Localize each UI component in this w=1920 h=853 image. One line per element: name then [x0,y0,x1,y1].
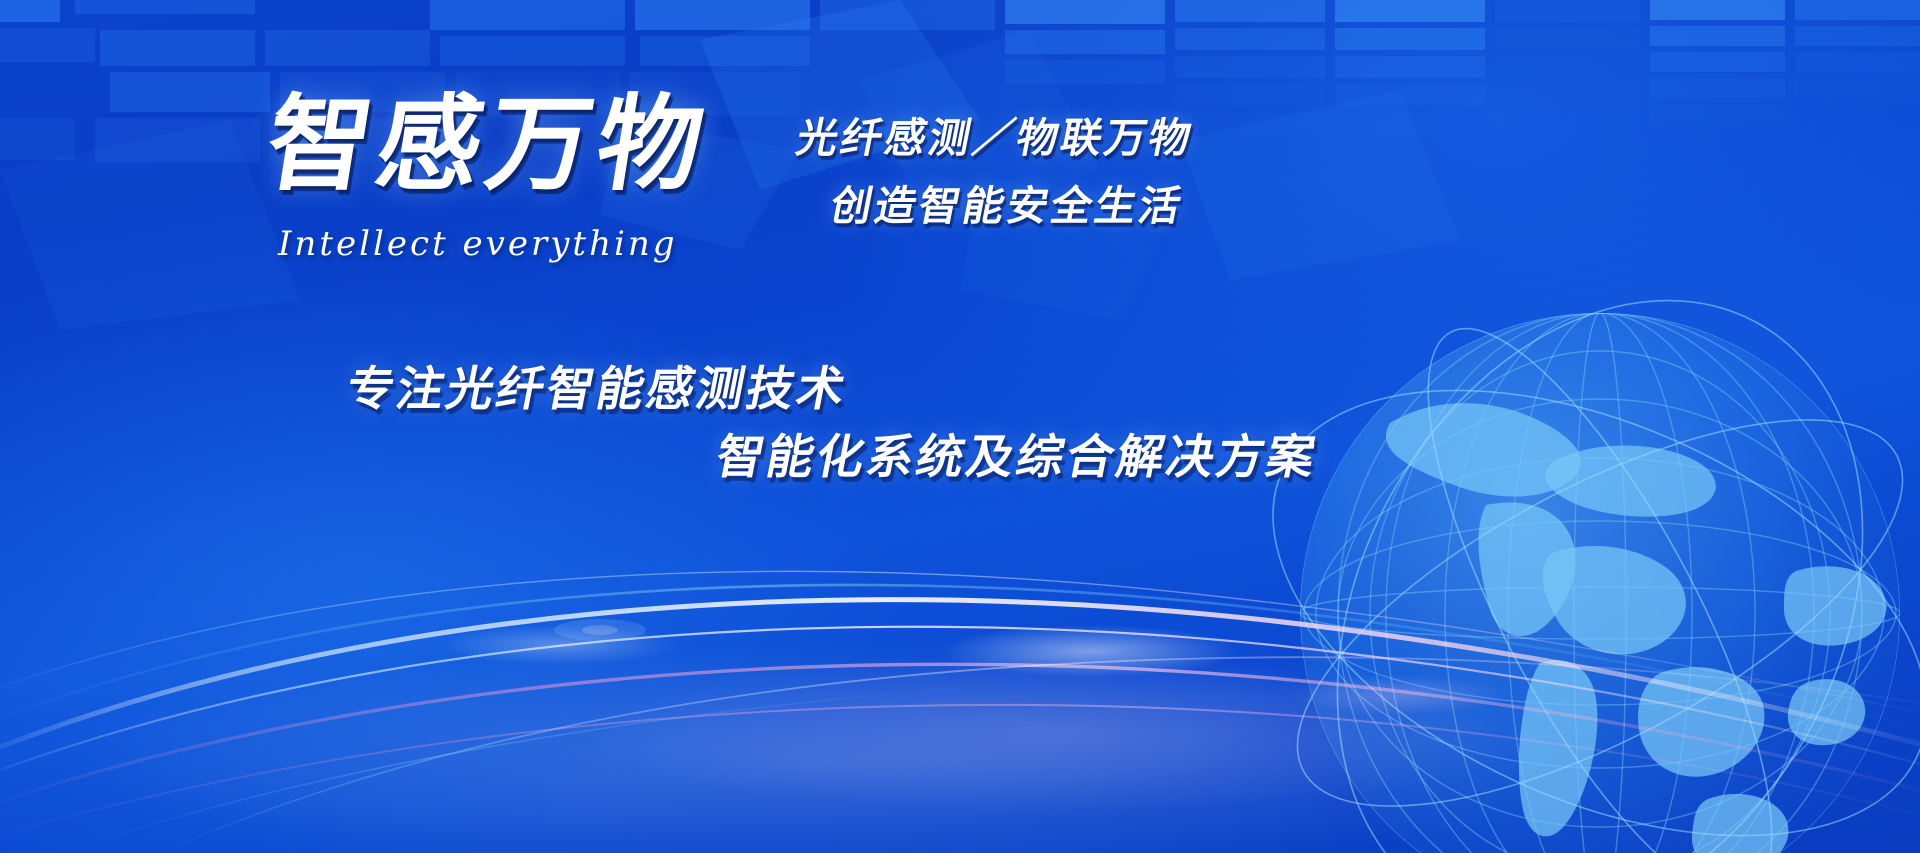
globe-graticule [1300,313,1900,853]
globe-svg [1240,253,1920,853]
streaks-svg [0,433,1920,853]
globe-orbits [1240,253,1920,853]
globe-continents [1386,403,1886,853]
globe-sphere [1300,313,1900,853]
wireframe-globe [1240,253,1920,853]
page-title: 智感万物 [260,92,716,196]
lens-flare-icon [540,600,660,660]
focus-line-2: 智能化系统及综合解决方案 [711,418,1324,487]
banner-root: 智感万物 Intellect everything 光纤感测／物联万物 创造智能… [0,0,1920,853]
slogan-line-1: 光纤感测／物联万物 [792,104,1200,164]
page-title-english: Intellect everything [278,224,678,264]
light-streak-swoosh [0,433,1920,853]
focus-line-1: 专注光纤智能感测技术 [341,350,854,419]
slogan-line-2: 创造智能安全生活 [826,172,1190,232]
facet-shapes [0,0,1460,330]
